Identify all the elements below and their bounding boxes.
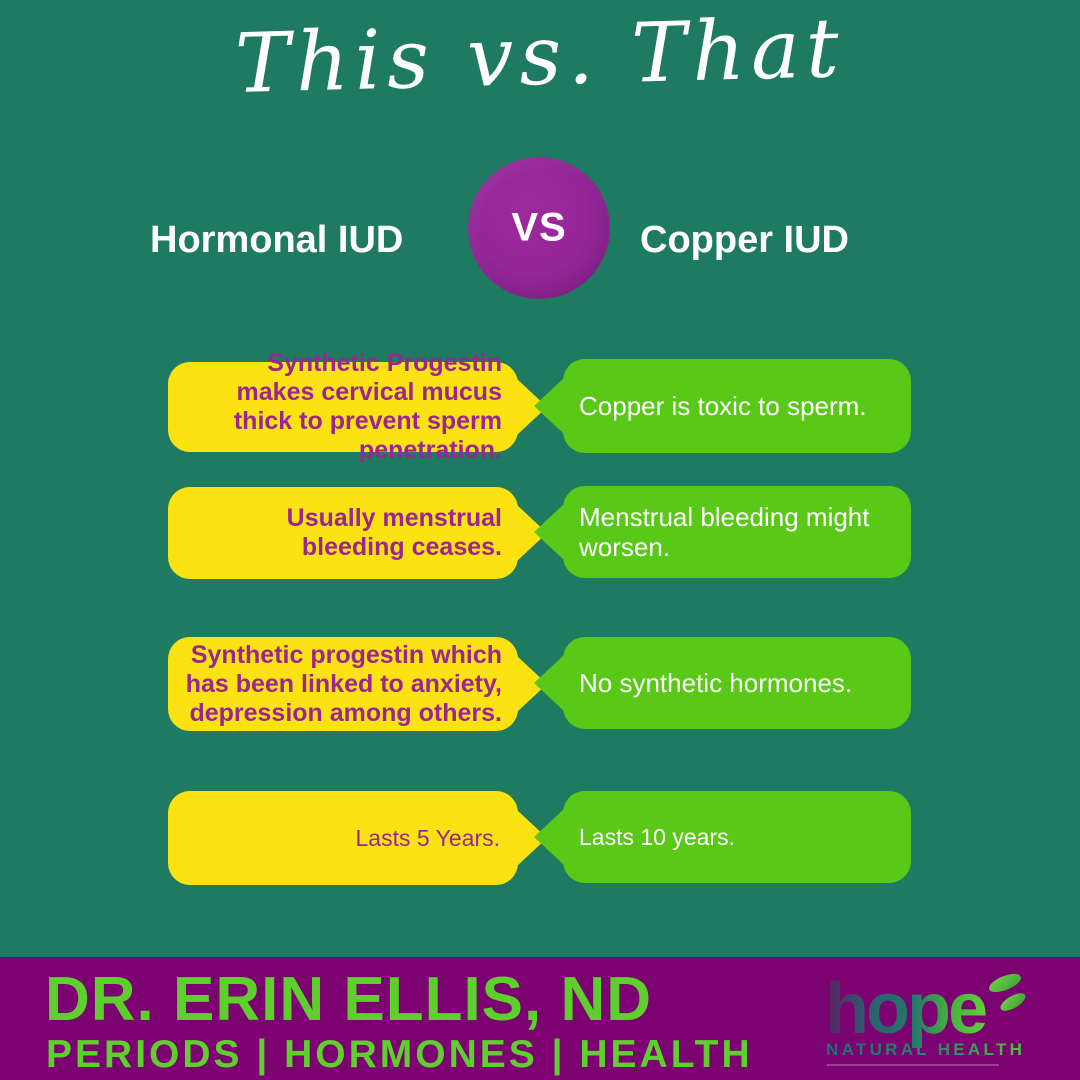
right-bubble-text: No synthetic hormones.: [579, 668, 895, 698]
right-bubble-text: Lasts 10 years.: [579, 824, 895, 851]
right-bubble: No synthetic hormones.: [563, 637, 911, 729]
leaf-icon-upper: [987, 970, 1024, 996]
left-bubble: Synthetic Progestin makes cervical mucus…: [168, 362, 518, 452]
bubble-tail-left-icon: [534, 809, 564, 865]
right-bubble-text: Menstrual bleeding might worsen.: [579, 502, 895, 562]
bubble-tail-left-icon: [534, 378, 564, 434]
hope-wordmark-glyphs: hope: [825, 969, 986, 1049]
logo-underline: [827, 1064, 999, 1066]
left-bubble: Usually menstrual bleeding ceases.: [168, 487, 518, 579]
practitioner-name: DR. ERIN ELLIS, ND: [45, 969, 652, 1031]
left-bubble: Synthetic progestin which has been linke…: [168, 637, 518, 731]
left-bubble: Lasts 5 Years.: [168, 791, 518, 885]
hope-subtitle-glyphs: NATURAL HEALTH: [826, 1040, 1025, 1059]
leaf-icon-lower: [998, 990, 1028, 1014]
right-bubble: Menstrual bleeding might worsen.: [563, 486, 911, 578]
right-bubble: Lasts 10 years.: [563, 791, 911, 883]
bubble-tail-left-icon: [534, 655, 564, 711]
left-bubble-text: Usually menstrual bleeding ceases.: [184, 504, 502, 562]
comparison-rows: Synthetic Progestin makes cervical mucus…: [0, 0, 1080, 1080]
infographic-canvas: This vs. That Hormonal IUD VS Copper IUD…: [0, 0, 1080, 1080]
left-bubble-text: Synthetic Progestin makes cervical mucus…: [184, 349, 502, 465]
right-bubble: Copper is toxic to sperm.: [563, 359, 911, 453]
footer-banner: DR. ERIN ELLIS, ND PERIODS | HORMONES | …: [0, 957, 1080, 1080]
left-bubble-text: Synthetic progestin which has been linke…: [156, 641, 502, 728]
right-bubble-text: Copper is toxic to sperm.: [579, 391, 895, 421]
footer-tagline: PERIODS | HORMONES | HEALTH: [46, 1035, 753, 1074]
hope-natural-health-logo: hope NATURAL HEALTH: [823, 969, 1038, 1069]
left-bubble-text: Lasts 5 Years.: [184, 825, 502, 852]
bubble-tail-left-icon: [534, 504, 564, 560]
